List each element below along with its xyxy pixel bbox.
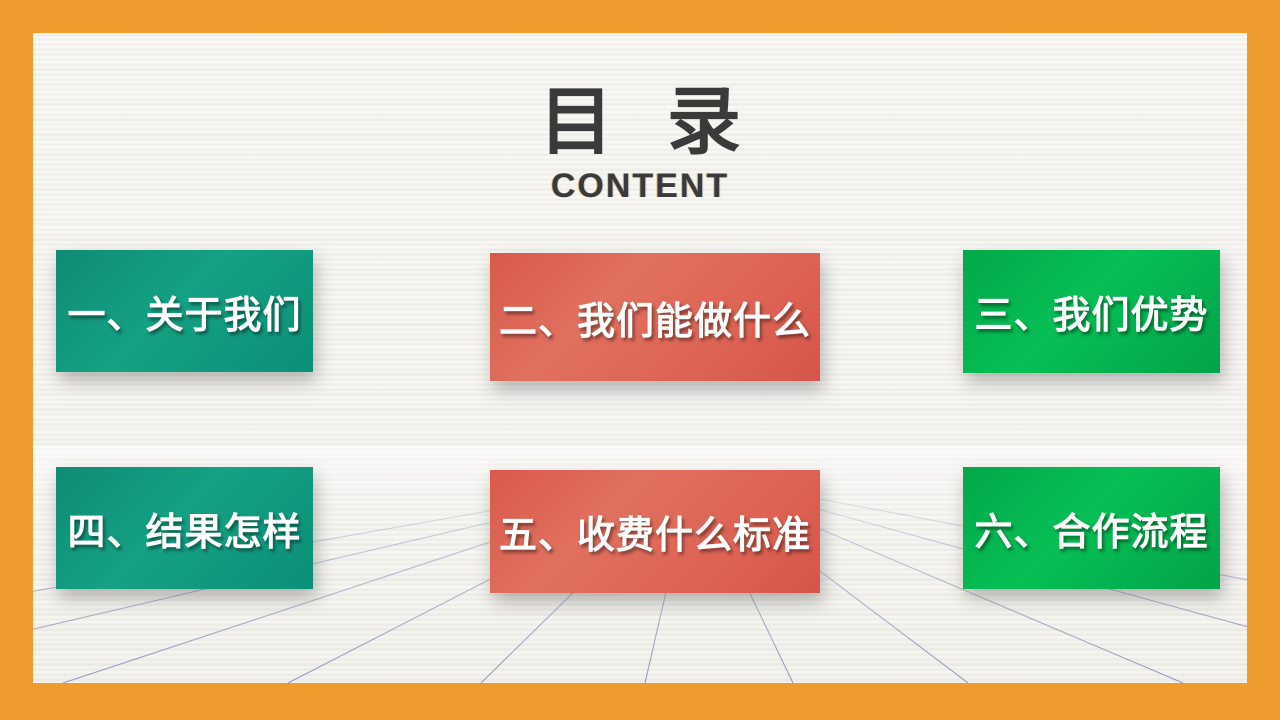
page-subtitle: CONTENT [33, 167, 1247, 206]
agenda-item-5[interactable]: 五、收费什么标准 [490, 470, 820, 593]
agenda-item-6[interactable]: 六、合作流程 [963, 467, 1220, 589]
agenda-item-3[interactable]: 三、我们优势 [963, 250, 1220, 373]
agenda-item-2-label: 二、我们能做什么 [490, 290, 820, 345]
page-title-group: 目 录 CONTENT [33, 83, 1247, 206]
agenda-item-4-label: 四、结果怎样 [56, 501, 313, 556]
agenda-item-2[interactable]: 二、我们能做什么 [490, 253, 820, 381]
page-title: 目 录 [33, 83, 1247, 163]
agenda-item-1[interactable]: 一、关于我们 [56, 250, 313, 372]
slide-panel: 目 录 CONTENT 一、关于我们 二、我们能做什么 三、我们优势 四、结果怎… [33, 33, 1247, 683]
agenda-item-4[interactable]: 四、结果怎样 [56, 467, 313, 589]
agenda-item-3-label: 三、我们优势 [963, 284, 1220, 339]
agenda-item-1-label: 一、关于我们 [56, 284, 313, 339]
agenda-item-6-label: 六、合作流程 [963, 501, 1220, 556]
slide-canvas: 目 录 CONTENT 一、关于我们 二、我们能做什么 三、我们优势 四、结果怎… [0, 0, 1280, 720]
agenda-item-5-label: 五、收费什么标准 [490, 504, 820, 559]
